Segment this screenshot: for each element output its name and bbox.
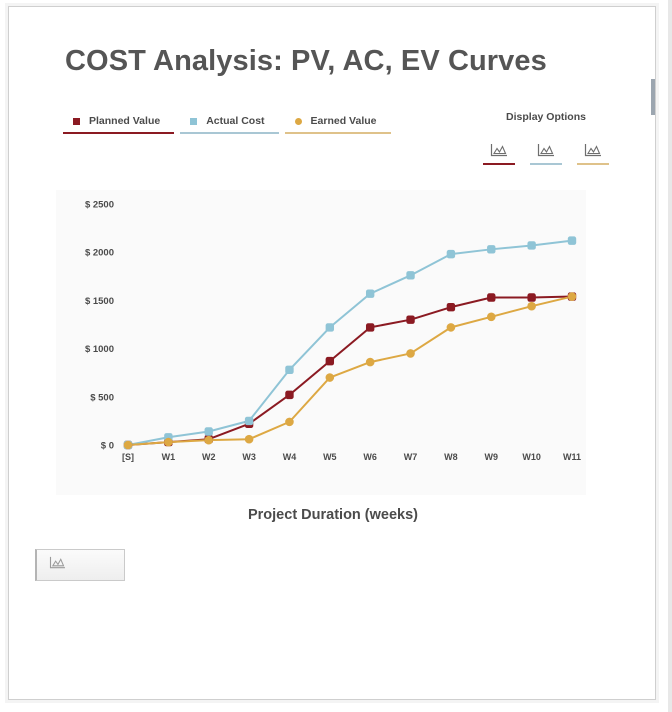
series-line	[128, 297, 572, 445]
display-options-panel: Display Options	[481, 111, 611, 165]
y-axis-tick-label: $ 1000	[85, 344, 114, 355]
series-data-point[interactable]	[568, 236, 576, 244]
y-axis-tick-label: $ 1500	[85, 296, 114, 307]
display-option-underline	[577, 163, 609, 165]
legend-swatch-icon	[295, 118, 302, 125]
x-axis-tick-label: W7	[404, 452, 418, 462]
series-data-point[interactable]	[245, 417, 253, 425]
display-option-button-actual-cost[interactable]	[528, 143, 564, 165]
legend-underline	[285, 132, 391, 134]
series-data-point[interactable]	[245, 435, 254, 444]
legend-underline	[180, 132, 278, 134]
x-axis-tick-label: W1	[162, 452, 176, 462]
x-axis-tick-label: W4	[283, 452, 297, 462]
y-axis-tick-label: $ 2000	[85, 248, 114, 259]
scrollbar-thumb[interactable]	[651, 79, 655, 115]
x-axis-tick-label: W9	[485, 452, 499, 462]
legend-item-label: Actual Cost	[206, 115, 264, 127]
legend-item-earned-value[interactable]: Earned Value	[285, 115, 391, 134]
series-data-point[interactable]	[406, 349, 415, 358]
legend-swatch-icon	[73, 118, 80, 125]
window-right-gutter	[668, 0, 672, 712]
series-data-point[interactable]	[326, 323, 334, 331]
x-axis-tick-label: W6	[363, 452, 377, 462]
legend-swatch-icon	[190, 118, 197, 125]
series-data-point[interactable]	[285, 391, 293, 399]
display-options-button-group	[481, 143, 611, 165]
series-data-point[interactable]	[487, 293, 495, 301]
line-chart-icon	[49, 556, 66, 575]
x-axis-tick-label: W5	[323, 452, 337, 462]
series-data-point[interactable]	[326, 357, 334, 365]
display-option-button-earned-value[interactable]	[575, 143, 611, 165]
line-chart-icon	[584, 143, 602, 158]
series-data-point[interactable]	[366, 358, 375, 367]
series-data-point[interactable]	[204, 436, 213, 445]
x-axis-tick-label: W3	[242, 452, 256, 462]
series-data-point[interactable]	[406, 271, 414, 279]
series-data-point[interactable]	[406, 315, 414, 323]
series-data-point[interactable]	[487, 312, 496, 321]
series-data-point[interactable]	[285, 366, 293, 374]
series-data-point[interactable]	[124, 441, 133, 450]
x-axis-tick-label: W8	[444, 452, 458, 462]
display-option-underline	[530, 163, 562, 165]
y-axis-tick-label: $ 0	[101, 441, 114, 452]
series-line	[128, 241, 572, 445]
series-data-point[interactable]	[447, 250, 455, 258]
chart-plot-area: $ 0$ 500$ 1000$ 1500$ 2000$ 2500 [S]W1W2…	[56, 190, 586, 495]
series-data-point[interactable]	[568, 292, 577, 301]
legend-item-label: Planned Value	[89, 115, 160, 127]
chart-legend: Planned Value Actual Cost Earned Value	[63, 115, 397, 134]
x-axis-title: Project Duration (weeks)	[9, 507, 656, 523]
line-chart-icon	[537, 143, 555, 158]
legend-item-label: Earned Value	[311, 115, 377, 127]
series-data-point[interactable]	[487, 245, 495, 253]
y-axis-tick-label: $ 500	[90, 392, 114, 403]
series-data-point[interactable]	[366, 289, 374, 297]
series-data-point[interactable]	[527, 293, 535, 301]
series-data-point[interactable]	[164, 438, 173, 447]
series-data-point[interactable]	[447, 303, 455, 311]
page-title: COST Analysis: PV, AC, EV Curves	[65, 45, 547, 78]
series-data-point[interactable]	[527, 302, 536, 311]
series-data-point[interactable]	[447, 323, 456, 332]
series-data-point[interactable]	[366, 323, 374, 331]
legend-underline	[63, 132, 174, 134]
y-axis-tick-label: $ 2500	[85, 200, 114, 211]
legend-item-actual-cost[interactable]: Actual Cost	[180, 115, 278, 134]
display-option-underline	[483, 163, 515, 165]
x-axis-tick-label: [S]	[122, 452, 134, 462]
display-option-button-planned-value[interactable]	[481, 143, 517, 165]
chart-toggle-button[interactable]	[35, 549, 125, 581]
series-data-point[interactable]	[326, 373, 335, 382]
cost-curves-chart[interactable]: $ 0$ 500$ 1000$ 1500$ 2000$ 2500 [S]W1W2…	[56, 190, 586, 495]
x-axis-tick-label: W11	[563, 452, 581, 462]
display-options-title: Display Options	[481, 111, 611, 123]
application-window: COST Analysis: PV, AC, EV Curves Planned…	[8, 6, 656, 700]
series-data-point[interactable]	[285, 418, 294, 427]
legend-item-planned-value[interactable]: Planned Value	[63, 115, 174, 134]
x-axis-tick-label: W2	[202, 452, 216, 462]
series-data-point[interactable]	[527, 241, 535, 249]
x-axis-tick-label: W10	[522, 452, 541, 462]
line-chart-icon	[490, 143, 508, 158]
series-data-point[interactable]	[205, 427, 213, 435]
